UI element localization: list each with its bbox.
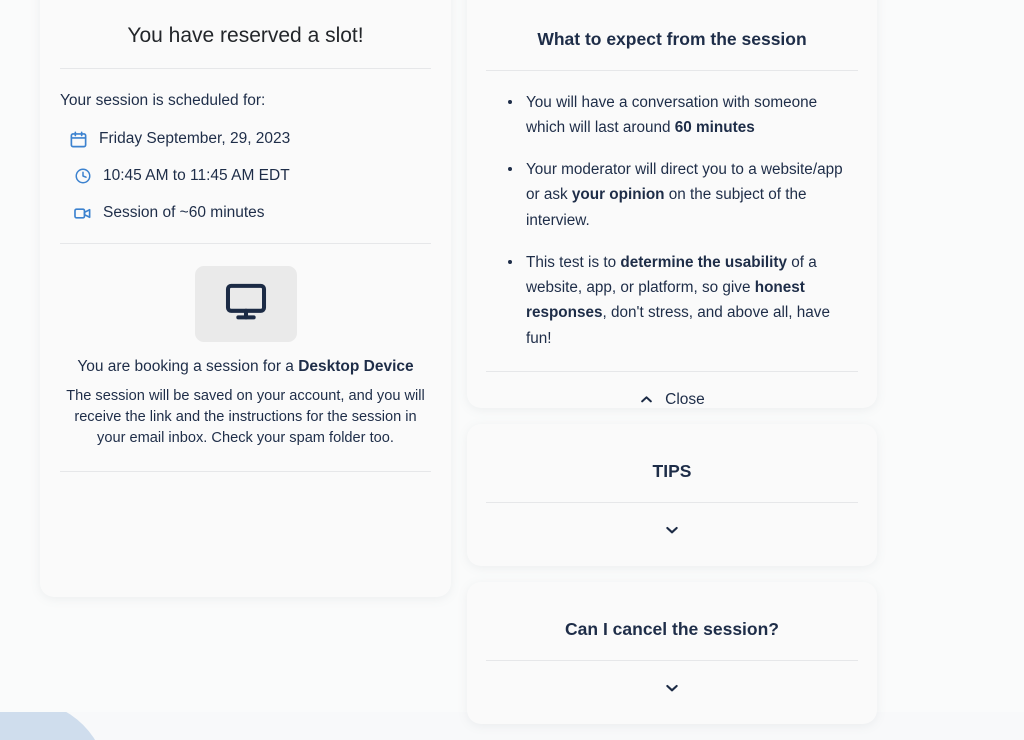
bullet-emphasis: 60 minutes [675,119,755,136]
divider-top [60,68,431,69]
accordion-cancel-divider [486,660,858,661]
detail-time-text: 10:45 AM to 11:45 AM EDT [103,166,290,186]
device-heading: You are booking a session for a Desktop … [60,356,431,378]
scheduled-label: Your session is scheduled for: [60,90,431,112]
bullet-emphasis: determine the usability [620,254,787,271]
expect-bullet-list: You will have a conversation with someon… [486,90,858,351]
detail-row-date: Friday September, 29, 2023 [60,129,431,149]
device-note: The session will be saved on your accoun… [60,386,431,449]
accordion-tips-divider [486,502,858,503]
chevron-down-icon [664,522,680,538]
calendar-icon [69,130,88,149]
accordion-cancel-session[interactable]: Can I cancel the session? [467,582,877,724]
accordion-cancel-toggle[interactable] [486,680,858,696]
bullet-text: You will have a conversation with someon… [526,94,817,136]
desktop-monitor-icon [223,279,269,330]
device-heading-prefix: You are booking a session for a [77,358,298,375]
clock-icon [73,167,92,186]
reservation-card: You have reserved a slot! Your session i… [40,0,451,597]
divider-bottom [60,471,431,472]
detail-row-duration: Session of ~60 minutes [60,203,431,223]
device-heading-bold: Desktop Device [298,358,413,375]
expect-bullet-item: This test is to determine the usability … [508,250,858,351]
accordion-cancel-title: Can I cancel the session? [486,582,858,641]
detail-duration-text: Session of ~60 minutes [103,203,265,223]
page-title: You have reserved a slot! [60,0,431,49]
what-to-expect-title: What to expect from the session [486,0,858,51]
video-camera-icon [73,204,92,223]
chevron-down-icon [664,680,680,696]
device-icon-box [195,266,297,342]
expect-divider-top [486,70,858,71]
detail-row-time: 10:45 AM to 11:45 AM EDT [60,166,431,186]
detail-date-text: Friday September, 29, 2023 [99,129,290,149]
bullet-text: This test is to [526,254,620,271]
bullet-emphasis: your opinion [572,186,665,203]
accordion-tips-title: TIPS [486,424,858,483]
expect-bullet-item: You will have a conversation with someon… [508,90,858,140]
what-to-expect-card: What to expect from the session You will… [467,0,877,408]
expect-bullet-item: Your moderator will direct you to a webs… [508,157,858,233]
accordion-tips-toggle[interactable] [486,522,858,538]
chevron-up-icon [639,392,654,407]
page-layout: You have reserved a slot! Your session i… [0,0,1024,740]
accordion-tips[interactable]: TIPS [467,424,877,566]
close-button[interactable]: Close [486,391,858,409]
divider-middle [60,243,431,244]
expect-divider-bottom [486,371,858,372]
close-button-label: Close [665,391,705,409]
